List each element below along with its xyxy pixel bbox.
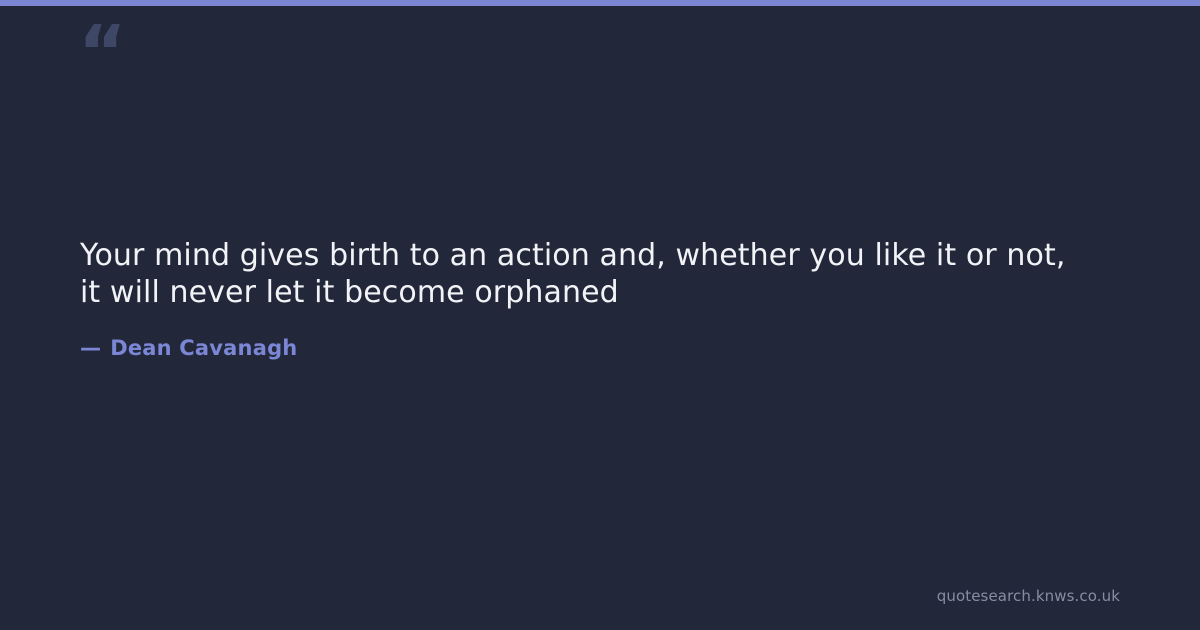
top-accent-bar [0, 0, 1200, 6]
em-dash: — [80, 336, 101, 360]
author-name: Dean Cavanagh [110, 336, 297, 360]
quote-attribution: —Dean Cavanagh [80, 336, 1090, 360]
site-watermark: quotesearch.knws.co.uk [937, 587, 1120, 605]
quote-content: Your mind gives birth to an action and, … [80, 238, 1090, 360]
quote-text: Your mind gives birth to an action and, … [80, 238, 1070, 312]
quote-card: “ Your mind gives birth to an action and… [0, 0, 1200, 630]
open-quote-icon: “ [78, 16, 125, 90]
